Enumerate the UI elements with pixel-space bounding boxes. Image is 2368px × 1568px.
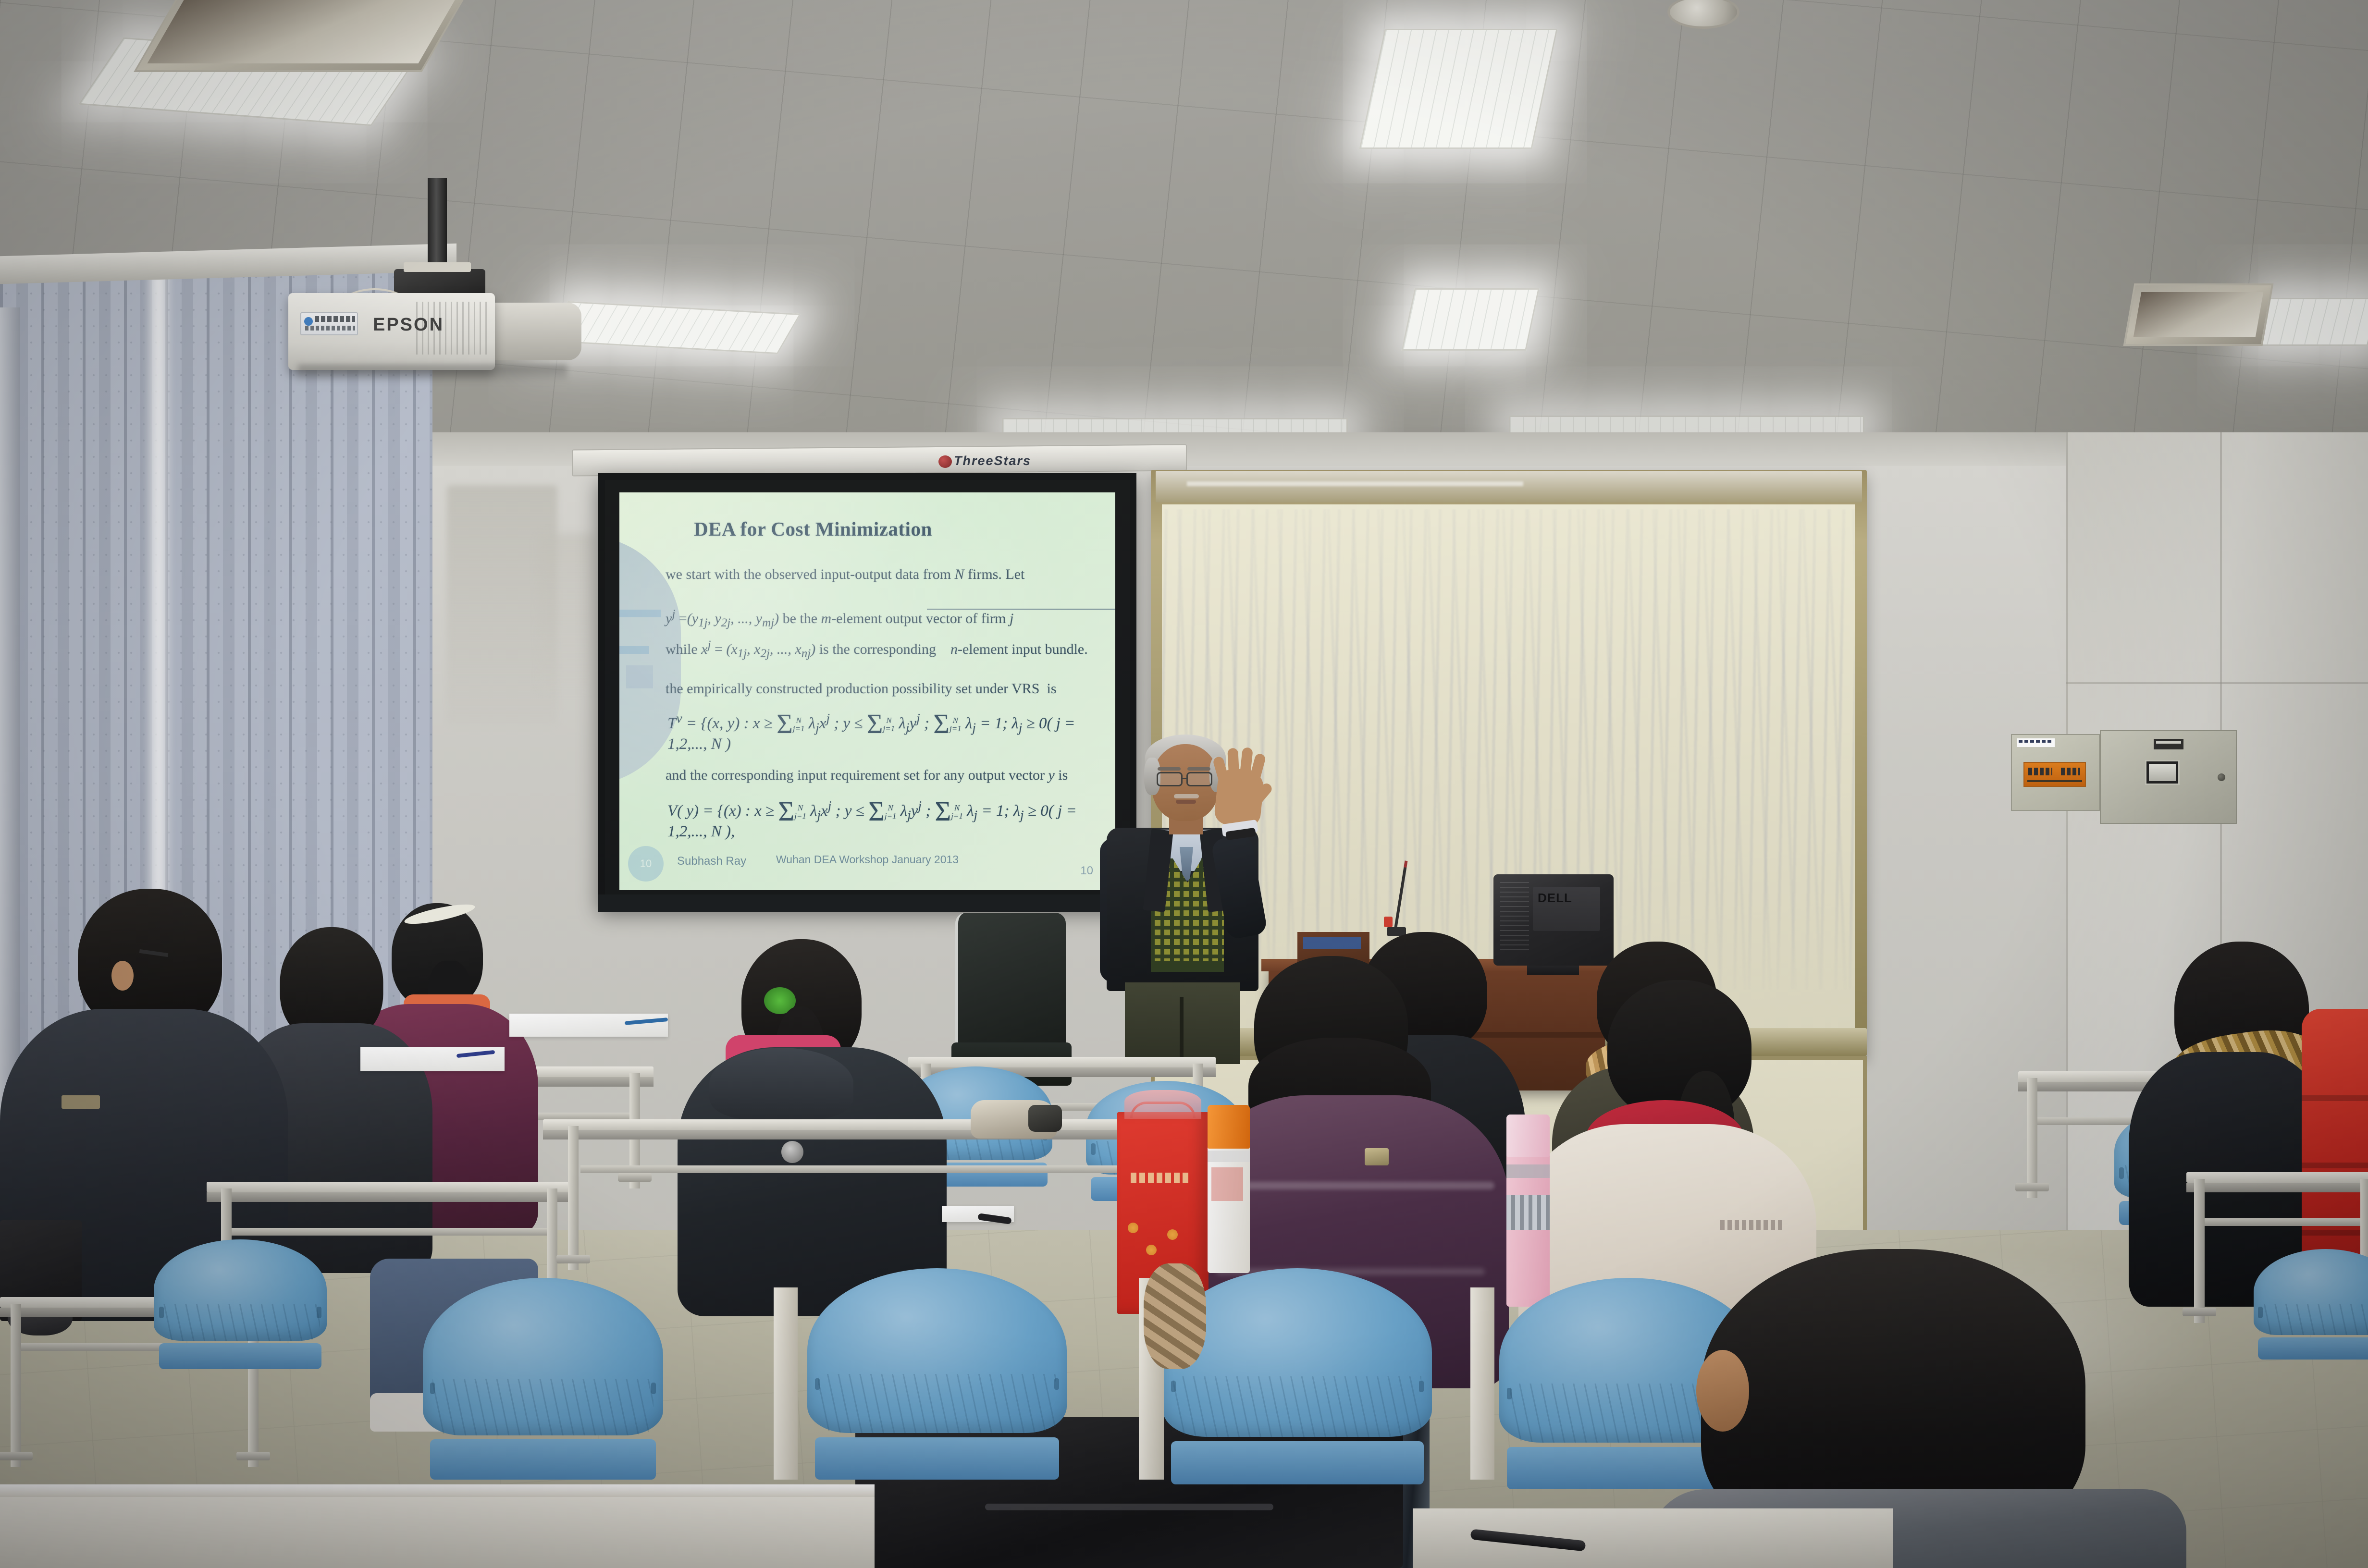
electrical-utility-cabinet[interactable] xyxy=(2100,730,2237,824)
desk-front-left-edge[interactable] xyxy=(0,1484,875,1568)
presenter-glasses-left-lens xyxy=(1157,772,1183,786)
presenter-mouth xyxy=(1176,800,1196,804)
projection-screen-bottom-bar xyxy=(598,894,1136,912)
projector-asset-sticker xyxy=(300,312,358,335)
monitor-brand-label: DELL xyxy=(1538,891,1572,906)
thermos-orange-cap[interactable] xyxy=(1208,1105,1250,1273)
gift-bag-tissue xyxy=(1124,1090,1201,1119)
chair-front-b[interactable] xyxy=(807,1268,1067,1480)
classroom-photo-scene: EPSON ThreeStars DEA for Cost Minimizati… xyxy=(0,0,2368,1568)
desk-front-left-lip xyxy=(0,1484,875,1497)
ear xyxy=(111,961,134,991)
jacket-logo-patch xyxy=(62,1095,100,1109)
projection-screen-brand: ThreeStars xyxy=(954,453,1112,470)
status-light-red xyxy=(1384,917,1393,927)
slide-footer-event: Wuhan DEA Workshop January 2013 xyxy=(766,853,968,867)
ceiling-light-7 xyxy=(1509,416,1864,434)
projection-screen: DEA for Cost Minimization we start with … xyxy=(598,473,1136,906)
presenter-eyebrow-right xyxy=(1187,767,1210,771)
presentation-slide: DEA for Cost Minimization we start with … xyxy=(619,492,1115,890)
gift-bag-text xyxy=(1131,1173,1188,1183)
slide-decoration-square xyxy=(626,665,653,688)
projection-screen-border: DEA for Cost Minimization we start with … xyxy=(605,480,1130,899)
office-chair-back[interactable] xyxy=(955,913,1066,1052)
coat-brand-text xyxy=(1720,1220,1783,1230)
slide-footer-author: Subhash Ray xyxy=(677,855,746,868)
projector-lens xyxy=(485,303,581,360)
ceiling-light-4 xyxy=(1401,288,1540,351)
notebook-left-2[interactable] xyxy=(509,1014,668,1037)
braided-object xyxy=(1144,1263,1206,1369)
wall-mark-b xyxy=(538,533,596,692)
parka-hood xyxy=(709,1048,853,1120)
slide-line-3: while xj = (x1j, x2j, ..., xnj) is the c… xyxy=(666,637,1101,661)
gift-bag-motif-1 xyxy=(1128,1223,1138,1233)
slide-line-1: we start with the observed input-output … xyxy=(666,565,1101,583)
slide-equation-1: Tv = {(x, y) : x ≥ ΣNj=1 λjxj ; y ≤ ΣNj=… xyxy=(667,703,1106,753)
thermos-cap xyxy=(1506,1115,1550,1157)
slide-equation-2: V( y) = {(x) : x ≥ ΣNj=1 λjxj ; y ≤ ΣNj=… xyxy=(667,790,1106,841)
projector-shadow xyxy=(298,365,567,382)
ceiling-air-vent xyxy=(134,0,472,72)
chair-front-post-a xyxy=(774,1287,798,1480)
bag-zipper xyxy=(985,1504,1273,1510)
presenter-glasses-right-lens xyxy=(1186,772,1212,786)
presenter-raised-hand xyxy=(1213,767,1265,828)
slide-line-5: and the corresponding input requirement … xyxy=(666,766,1101,784)
curtain-light-gap xyxy=(144,269,173,990)
wall-seam-3 xyxy=(2066,682,2368,684)
cabinet-lock-icon[interactable] xyxy=(2218,773,2225,781)
vest-quilt-1 xyxy=(2302,1095,2368,1101)
thermos-cap xyxy=(1208,1105,1250,1149)
chair-front-post-c xyxy=(1470,1287,1494,1480)
chair-front-a[interactable] xyxy=(423,1278,663,1480)
thermos-band xyxy=(1208,1151,1250,1163)
vest-quilt-2 xyxy=(2302,1163,2368,1168)
electrical-breaker-panel[interactable] xyxy=(2011,734,2100,811)
wall-seam-1 xyxy=(2066,432,2068,1345)
slide-decoration-bar-1 xyxy=(619,610,661,617)
projector-brand-label: EPSON xyxy=(353,315,464,339)
gift-bag-motif-2 xyxy=(1146,1245,1157,1255)
thermos-band-a xyxy=(1506,1164,1550,1178)
whiteboard-top-rail xyxy=(1156,471,1862,502)
thermos-metal-ring xyxy=(1506,1195,1550,1230)
ear xyxy=(1696,1350,1749,1432)
ceiling-air-vent-right xyxy=(2123,283,2274,346)
slide-decoration-bar-2 xyxy=(619,646,649,654)
slide-footer: 10 Subhash Ray Wuhan DEA Workshop Januar… xyxy=(619,852,1115,883)
presenter-trouser-seam xyxy=(1180,997,1184,1064)
desk-row2-mid[interactable] xyxy=(543,1119,1168,1263)
chair-row2-left[interactable] xyxy=(154,1239,327,1369)
gift-bag-motif-3 xyxy=(1167,1229,1178,1240)
slide-line-4: the empirically constructed production p… xyxy=(666,680,1101,698)
thermos-label xyxy=(1211,1167,1243,1201)
ceiling-light-3 xyxy=(1359,29,1557,149)
chair-far-right-a[interactable] xyxy=(2254,1249,2368,1360)
whiteboard-rail-highlight xyxy=(1187,481,1523,486)
ceiling-light-5 xyxy=(2253,298,2368,346)
presenter-glasses-bridge xyxy=(1183,778,1187,779)
slide-footer-badge: 10 xyxy=(628,846,664,882)
slide-line-2: yj =(y1j, y2j, ..., ymj) be the m-elemen… xyxy=(666,607,1101,630)
presenter-eyebrow-left xyxy=(1158,767,1181,771)
puffer-zip-tag xyxy=(1365,1148,1389,1165)
presenter-moustache xyxy=(1174,794,1199,798)
slide-title: DEA for Cost Minimization xyxy=(694,517,1096,540)
threestars-logo-icon xyxy=(938,455,952,468)
gloves-on-desk-strap xyxy=(1028,1105,1062,1132)
